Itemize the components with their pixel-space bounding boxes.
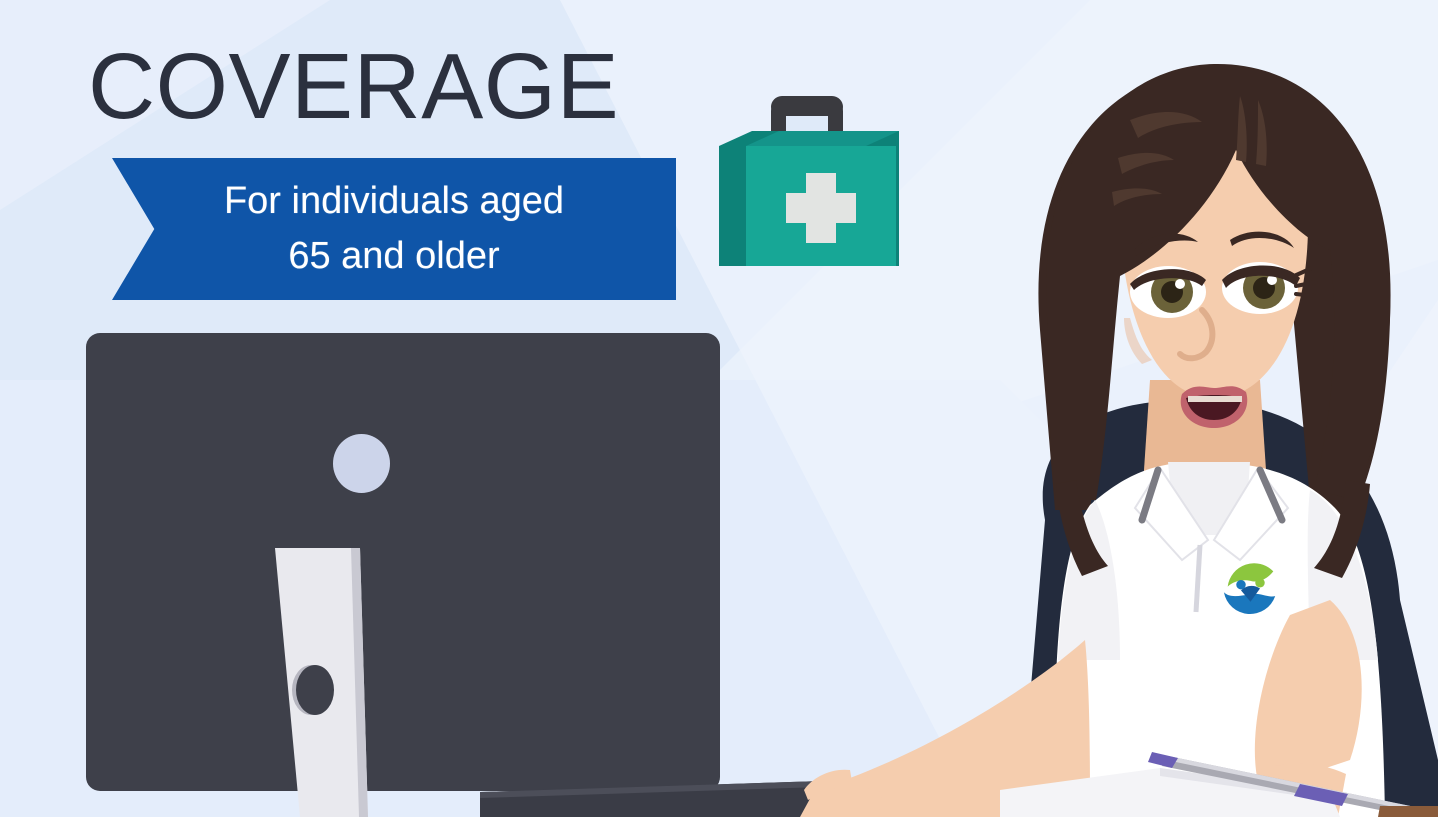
monitor-logo-dot: [333, 434, 390, 493]
title-block: COVERAGE: [88, 42, 728, 130]
desk-items: [1000, 730, 1438, 817]
ribbon-banner: [112, 158, 676, 300]
slide-canvas: For individuals aged 65 and older COVERA…: [0, 0, 1438, 817]
page-title: COVERAGE: [88, 42, 728, 130]
monitor-stand: [248, 548, 388, 817]
logo-figure-right-head: [1255, 578, 1265, 588]
desk-edge: [1378, 806, 1438, 817]
teeth: [1188, 396, 1242, 402]
monitor-screen-back: [86, 333, 720, 791]
presenter-woman: [790, 0, 1438, 817]
monitor-stand-hole: [296, 665, 334, 715]
eye-left-highlight: [1175, 279, 1185, 289]
